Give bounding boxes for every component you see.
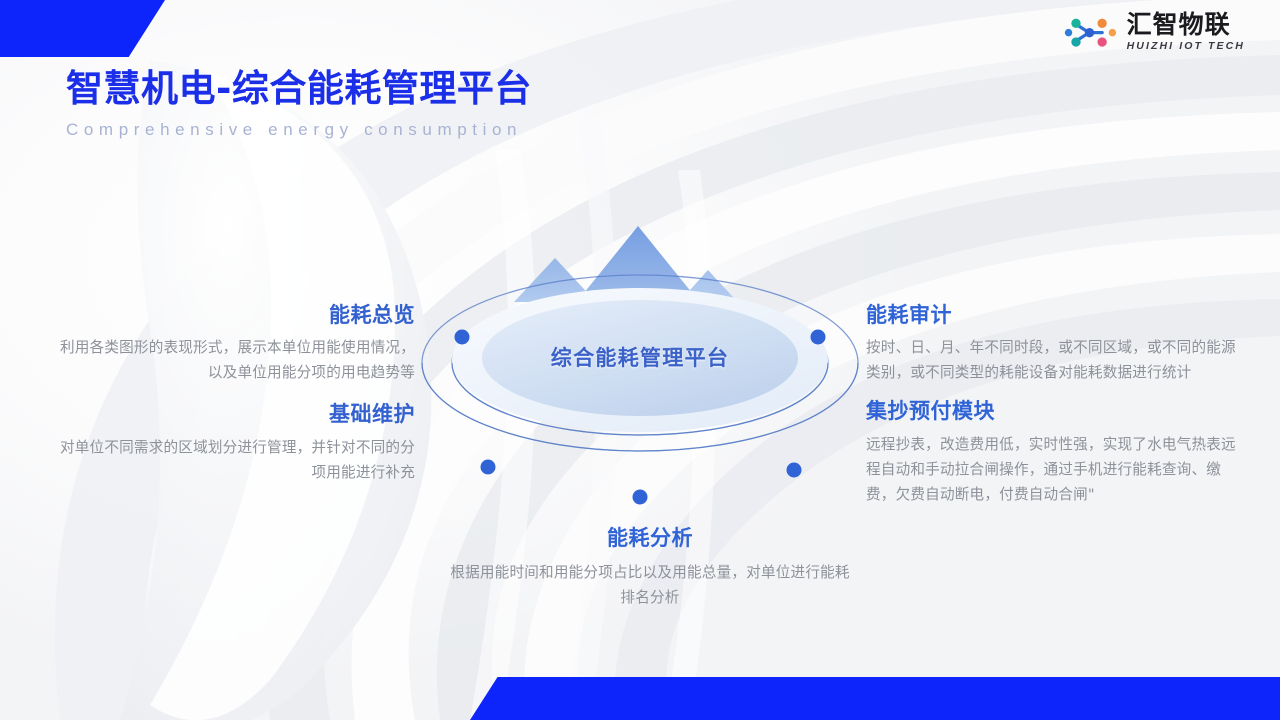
feature-heading: 能耗总览 [50, 302, 415, 328]
feature-heading: 集抄预付模块 [866, 398, 1236, 424]
feature-body: 对单位不同需求的区域划分进行管理，并针对不同的分项用能进行补充 [50, 435, 415, 485]
feature-heading: 能耗审计 [866, 302, 1236, 328]
feature-heading: 基础维护 [50, 401, 415, 427]
feature-column-bottom: 能耗分析 根据用能时间和用能分项占比以及用能总量，对单位进行能耗排名分析 [450, 525, 850, 610]
feature-body: 远程抄表，改造费用低，实时性强，实现了水电气热表远程自动和手动拉合闸操作，通过手… [866, 432, 1236, 507]
title-block: 智慧机电-综合能耗管理平台 Comprehensive energy consu… [66, 68, 532, 140]
molecule-network-icon [1062, 14, 1118, 52]
feature-heading: 能耗分析 [450, 525, 850, 551]
feature-energy-overview: 能耗总览 利用各类图形的表现形式，展示本单位用能使用情况，以及单位用能分项的用电… [50, 302, 415, 385]
company-logo: 汇智物联 HUIZHI IOT TECH [1062, 12, 1245, 52]
feature-column-right: 能耗审计 按时、日、月、年不同时段，或不同区域，或不同的能源类别，或不同类型的耗… [866, 302, 1236, 507]
top-left-accent-shape [0, 0, 165, 57]
page-subtitle: Comprehensive energy consumption [66, 120, 532, 140]
center-platform-label: 综合能耗管理平台 [400, 342, 880, 372]
page-title: 智慧机电-综合能耗管理平台 [66, 68, 532, 111]
logo-wordmark: 汇智物联 HUIZHI IOT TECH [1127, 12, 1245, 52]
slide-root: 汇智物联 HUIZHI IOT TECH 智慧机电-综合能耗管理平台 Compr… [0, 0, 1280, 720]
feature-basic-maintenance: 基础维护 对单位不同需求的区域划分进行管理，并针对不同的分项用能进行补充 [50, 401, 415, 484]
central-graphic: 综合能耗管理平台 [400, 200, 880, 530]
feature-prepaid-metering: 集抄预付模块 远程抄表，改造费用低，实时性强，实现了水电气热表远程自动和手动拉合… [866, 398, 1236, 507]
feature-energy-analysis: 能耗分析 根据用能时间和用能分项占比以及用能总量，对单位进行能耗排名分析 [450, 525, 850, 610]
feature-body: 根据用能时间和用能分项占比以及用能总量，对单位进行能耗排名分析 [450, 560, 850, 610]
feature-column-left: 能耗总览 利用各类图形的表现形式，展示本单位用能使用情况，以及单位用能分项的用电… [50, 302, 415, 485]
logo-name-cn: 汇智物联 [1127, 12, 1231, 37]
feature-body: 利用各类图形的表现形式，展示本单位用能使用情况，以及单位用能分项的用电趋势等 [50, 335, 415, 385]
logo-name-en: HUIZHI IOT TECH [1127, 41, 1245, 52]
bottom-accent-bar [470, 677, 1280, 720]
feature-energy-audit: 能耗审计 按时、日、月、年不同时段，或不同区域，或不同的能源类别，或不同类型的耗… [866, 302, 1236, 385]
feature-body: 按时、日、月、年不同时段，或不同区域，或不同的能源类别，或不同类型的耗能设备对能… [866, 335, 1236, 385]
